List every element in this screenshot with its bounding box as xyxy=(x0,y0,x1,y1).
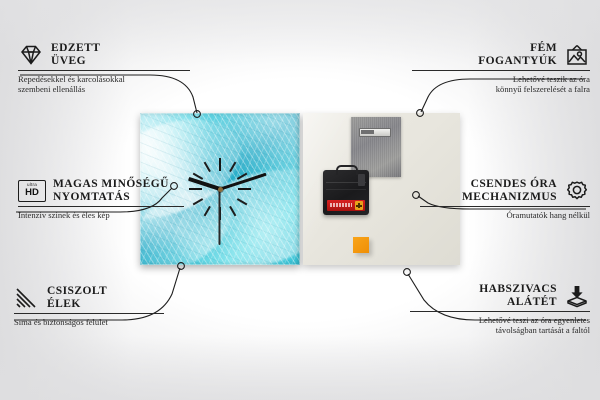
mechanism-seam xyxy=(326,189,366,190)
badge-bottom-label: HD xyxy=(25,188,39,198)
foam-spacer-pad xyxy=(353,237,369,253)
metal-grain xyxy=(351,117,401,177)
clock-mechanism xyxy=(323,170,369,215)
product-image xyxy=(140,113,460,265)
mechanism-hook xyxy=(336,165,358,175)
feature-description: Lehetővé teszi az óra egyenletes távolsá… xyxy=(410,315,590,336)
feature-description: Óramutatók hang nélkül xyxy=(420,210,590,220)
feature-title: CSISZOLT ÉLEK xyxy=(47,285,107,310)
hanger-slot xyxy=(359,128,391,137)
feature-rule xyxy=(18,70,190,71)
feature-header: FÉM FOGANTYÚK xyxy=(412,42,590,67)
feature-tempered-glass: EDZETT ÜVEG Repedésekkel és karcolásokka… xyxy=(18,42,190,95)
feature-high-quality-print: ultra HD MAGAS MINŐSÉGŰ NYOMTATÁS Intenz… xyxy=(18,178,184,220)
feature-description: Repedésekkel és karcolásokkal szembeni e… xyxy=(18,74,190,95)
metal-hanger-plate xyxy=(351,117,401,177)
picture-frame-hanger-icon xyxy=(564,43,590,67)
diamond-icon xyxy=(18,43,44,67)
battery xyxy=(327,200,365,211)
feature-polished-edges: CSISZOLT ÉLEK Sima és biztonságos felüle… xyxy=(14,285,164,327)
feature-rule xyxy=(18,206,184,207)
feature-description: Intenzív színek és éles kép xyxy=(18,210,184,220)
feature-description: Sima és biztonságos felület xyxy=(14,317,164,327)
feature-rule xyxy=(410,311,590,312)
feature-header: CSENDES ÓRA MECHANIZMUS xyxy=(420,178,590,203)
hatched-edge-icon xyxy=(14,286,40,310)
feature-title: EDZETT ÜVEG xyxy=(51,42,100,67)
press-pad-arrow-icon xyxy=(564,284,590,308)
feature-title: MAGAS MINŐSÉGŰ NYOMTATÁS xyxy=(53,178,169,203)
ultra-hd-badge-icon: ultra HD xyxy=(18,180,46,202)
feature-title: FÉM FOGANTYÚK xyxy=(478,42,557,67)
feature-metal-handles: FÉM FOGANTYÚK Lehetővé teszik az óra kön… xyxy=(412,42,590,95)
mechanism-knob xyxy=(358,174,365,186)
battery-label xyxy=(330,203,352,207)
gear-icon xyxy=(564,179,590,203)
connector-endpoint-foam xyxy=(404,269,411,276)
feature-header: EDZETT ÜVEG xyxy=(18,42,190,67)
feature-title: CSENDES ÓRA MECHANIZMUS xyxy=(462,178,557,203)
feature-header: CSISZOLT ÉLEK xyxy=(14,285,164,310)
feature-rule xyxy=(14,313,164,314)
feature-header: HABSZIVACS ALÁTÉT xyxy=(410,283,590,308)
feature-foam-spacer: HABSZIVACS ALÁTÉT Lehetővé teszi az óra … xyxy=(410,283,590,336)
feature-rule xyxy=(420,206,590,207)
feature-description: Lehetővé teszik az óra könnyű felszerelé… xyxy=(412,74,590,95)
infographic-canvas: EDZETT ÜVEG Repedésekkel és karcolásokka… xyxy=(0,0,600,400)
battery-plus-terminal xyxy=(355,201,363,210)
feature-silent-mechanism: CSENDES ÓRA MECHANIZMUS Óramutatók hang … xyxy=(420,178,590,220)
feature-rule xyxy=(412,70,590,71)
feature-title: HABSZIVACS ALÁTÉT xyxy=(479,283,557,308)
feature-header: ultra HD MAGAS MINŐSÉGŰ NYOMTATÁS xyxy=(18,178,184,203)
